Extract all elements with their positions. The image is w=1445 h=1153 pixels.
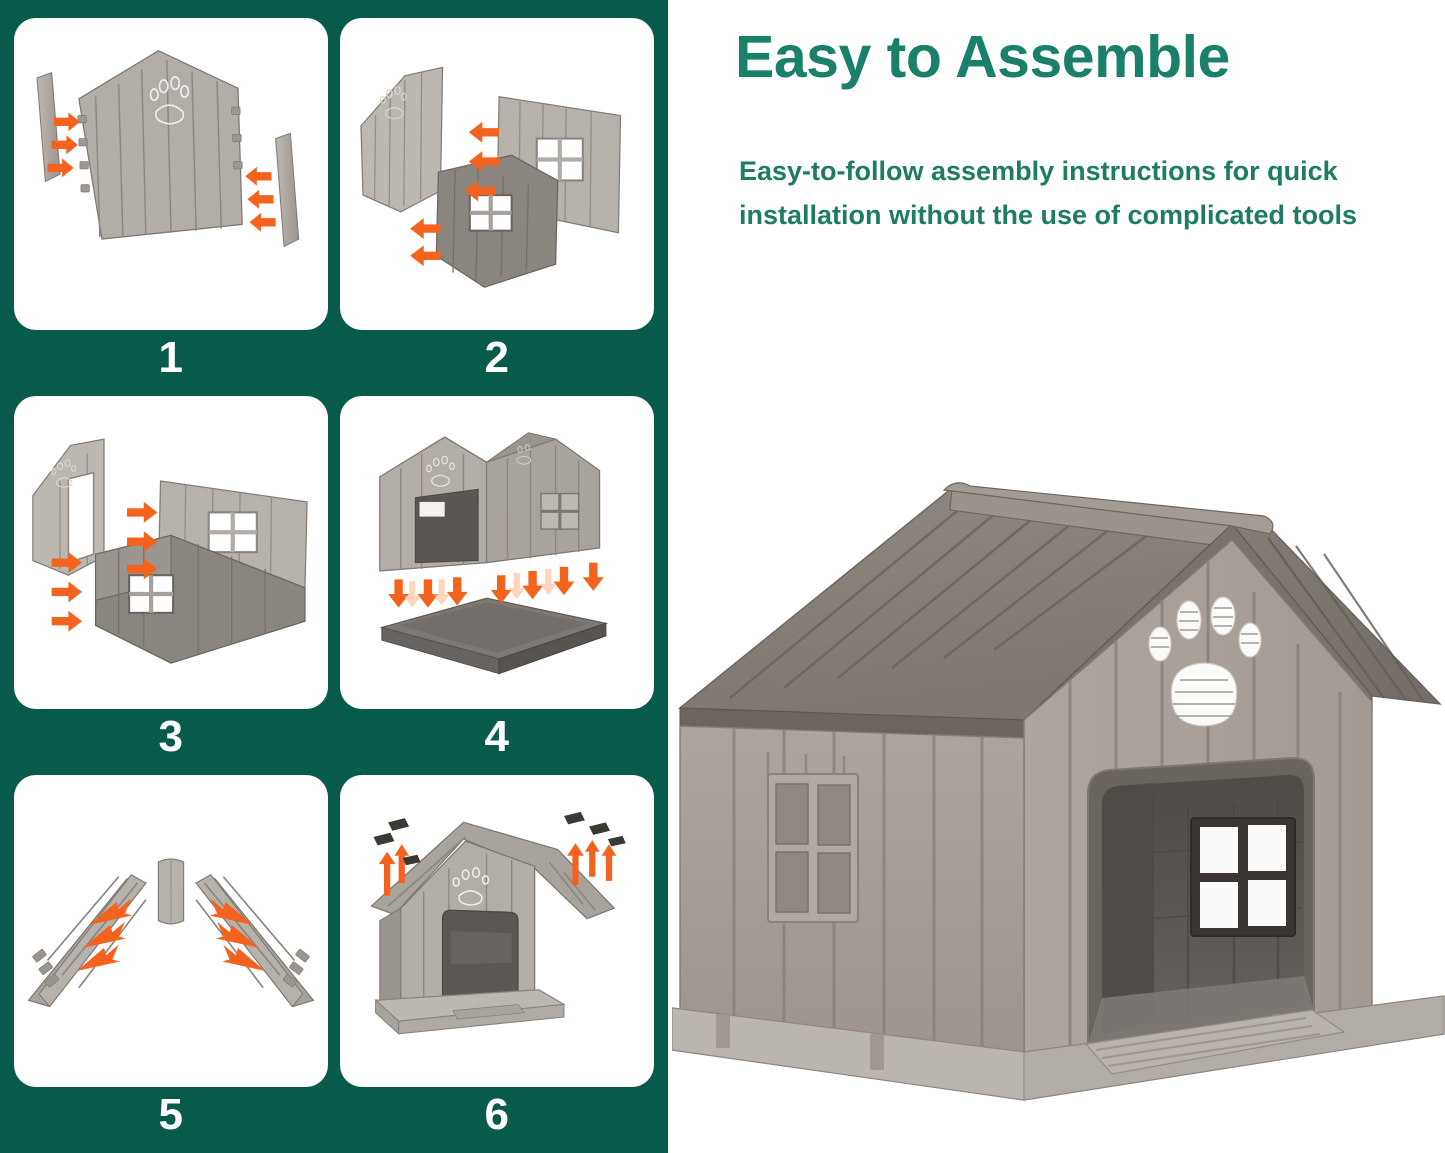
window-opening bbox=[129, 576, 173, 614]
door-opening bbox=[1088, 758, 1314, 1044]
step-cell-4: 4 bbox=[340, 396, 654, 764]
window-opening bbox=[541, 494, 579, 530]
floor-base bbox=[382, 599, 606, 674]
step-1-illustration bbox=[14, 18, 328, 330]
step-6-diagram bbox=[340, 775, 654, 1087]
step-cell-3: 3 bbox=[14, 396, 328, 764]
step-3-diagram bbox=[14, 396, 328, 708]
step-4-number: 4 bbox=[340, 709, 654, 765]
page-title: Easy to Assemble bbox=[735, 26, 1395, 90]
interior-window bbox=[1191, 818, 1295, 936]
step-6-illustration bbox=[340, 775, 654, 1087]
page-subtitle: Easy-to-follow assembly instructions for… bbox=[739, 150, 1411, 237]
back-panel bbox=[78, 51, 242, 239]
step-1-diagram bbox=[14, 18, 328, 330]
step-4-diagram bbox=[340, 396, 654, 708]
step-6-number: 6 bbox=[340, 1087, 654, 1143]
roof-panel-left bbox=[29, 874, 146, 1006]
lower-wall-panel bbox=[436, 155, 557, 287]
roof-panel-right bbox=[196, 874, 313, 1006]
step-cell-1: 1 bbox=[14, 18, 328, 386]
window-opening bbox=[470, 195, 512, 231]
step-2-illustration bbox=[340, 18, 654, 330]
step-cell-5: 5 bbox=[14, 775, 328, 1143]
step-cell-2: 2 bbox=[340, 18, 654, 386]
roof-ridge-cap bbox=[158, 859, 183, 925]
step-4-illustration bbox=[340, 396, 654, 708]
dog-house-illustration bbox=[672, 452, 1445, 1152]
step-3-number: 3 bbox=[14, 709, 328, 765]
side-rail-right bbox=[276, 133, 299, 246]
step-5-illustration bbox=[14, 775, 328, 1087]
step-5-diagram bbox=[14, 775, 328, 1087]
hero-product-image bbox=[672, 452, 1445, 1152]
step-5-number: 5 bbox=[14, 1087, 328, 1143]
step-2-number: 2 bbox=[340, 330, 654, 386]
window-opening bbox=[209, 513, 257, 553]
gable-wall-panel bbox=[361, 67, 443, 211]
step-3-illustration bbox=[14, 396, 328, 708]
side-window bbox=[768, 774, 858, 922]
step-1-number: 1 bbox=[14, 330, 328, 386]
wall-assembly bbox=[380, 433, 600, 571]
step-cell-6: 6 bbox=[340, 775, 654, 1143]
assembly-steps-panel: 1 bbox=[0, 0, 668, 1153]
step-2-diagram bbox=[340, 18, 654, 330]
assembly-steps-grid: 1 bbox=[0, 0, 668, 1153]
